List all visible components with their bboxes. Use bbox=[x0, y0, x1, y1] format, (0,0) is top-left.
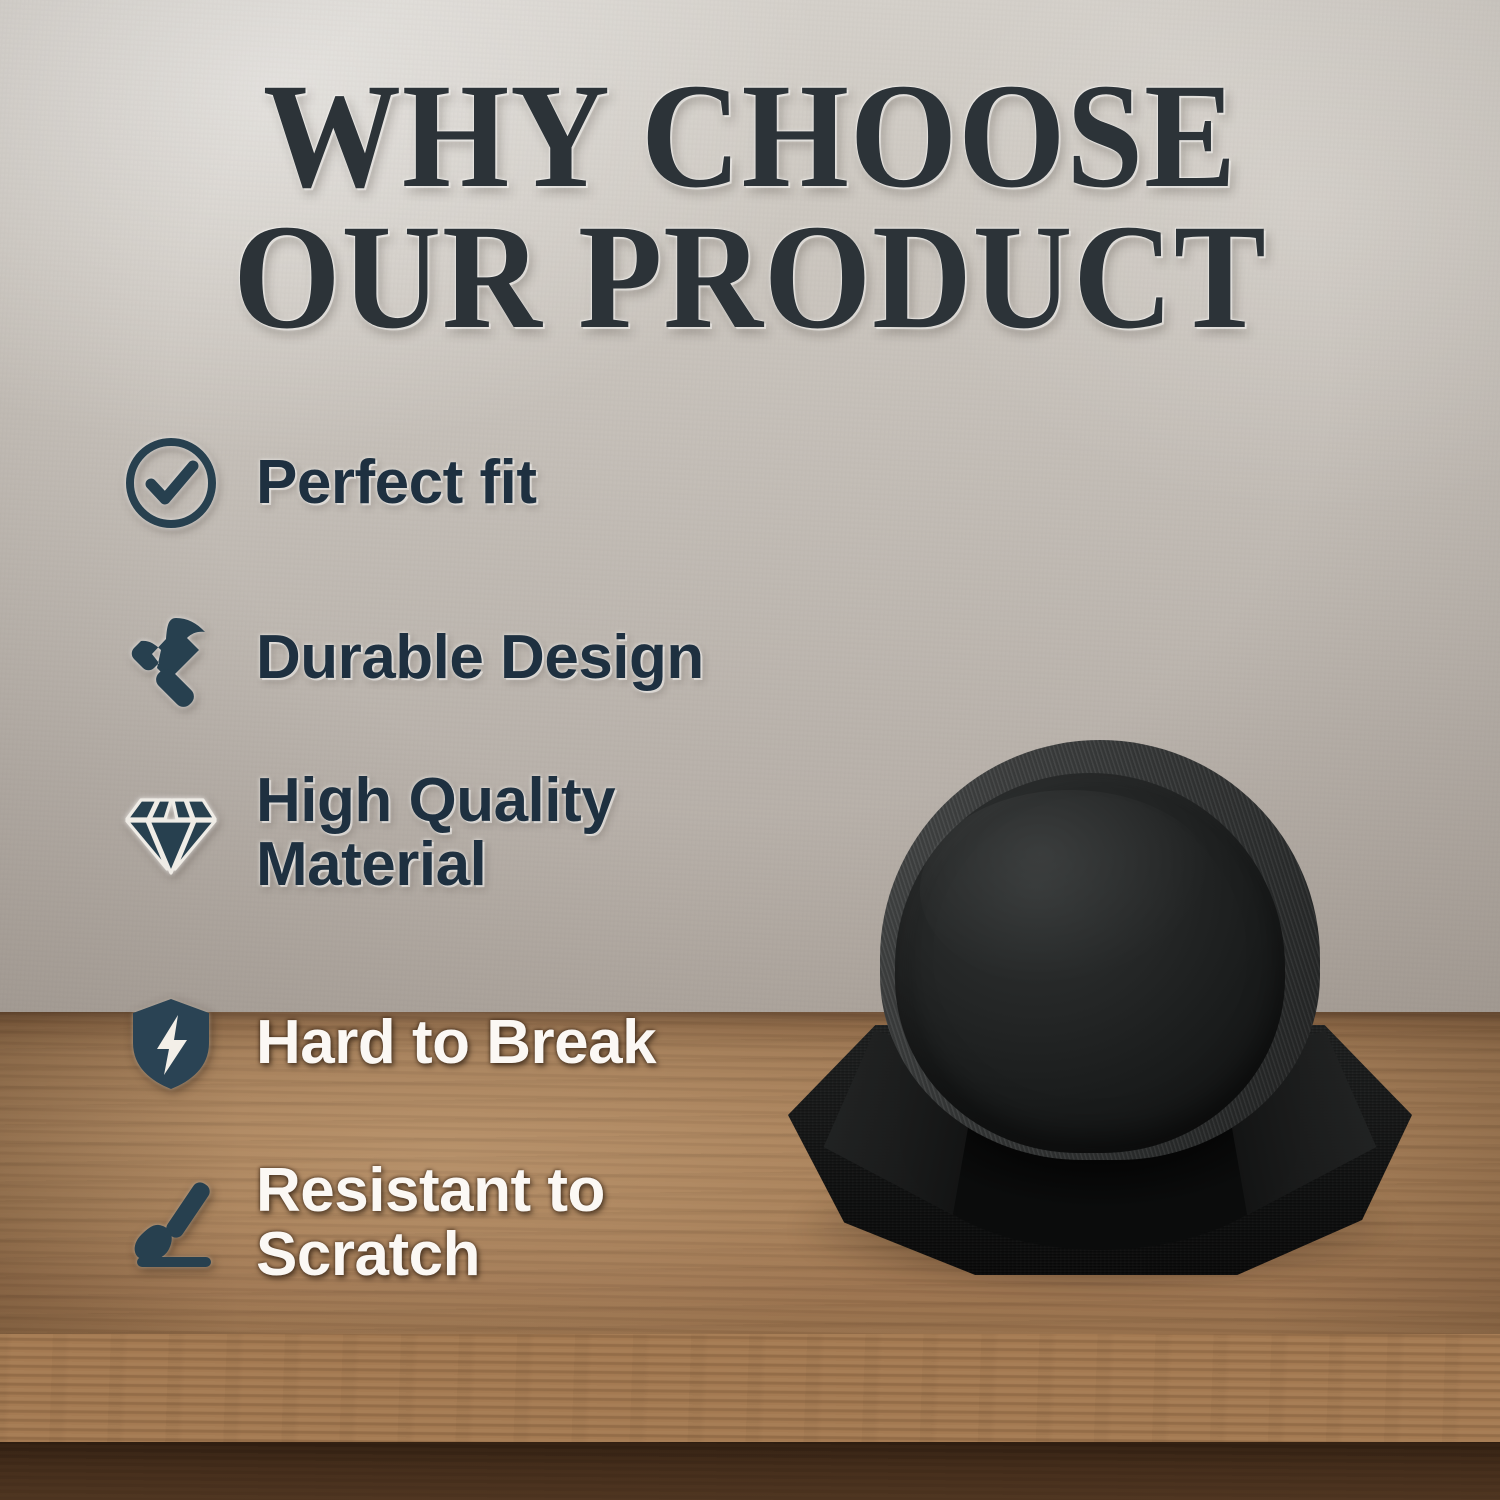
feature-label: Resistant to Scratch bbox=[256, 1159, 605, 1288]
scratch-stylus-icon bbox=[112, 1164, 230, 1282]
diamond-icon bbox=[112, 774, 230, 892]
shelf-underside-grain bbox=[0, 1442, 1500, 1500]
feature-label: Hard to Break bbox=[256, 1011, 656, 1075]
page-title-line-1: WHY CHOOSE bbox=[60, 66, 1440, 207]
shelf-front-edge-grain bbox=[0, 1334, 1500, 1442]
feature-item-resistant-to-scratch: Resistant to Scratch bbox=[112, 1159, 605, 1288]
check-circle-icon bbox=[112, 424, 230, 542]
page-title-line-2: OUR PRODUCT bbox=[60, 207, 1440, 348]
feature-item-hard-to-break: Hard to Break bbox=[112, 984, 656, 1102]
hammer-icon bbox=[112, 599, 230, 717]
product-object bbox=[780, 735, 1420, 1305]
feature-item-high-quality-material: High Quality Material bbox=[112, 769, 615, 898]
shield-bolt-icon bbox=[112, 984, 230, 1102]
feature-item-perfect-fit: Perfect fit bbox=[112, 424, 536, 542]
feature-label: Durable Design bbox=[256, 626, 704, 690]
product-disc-highlight bbox=[920, 790, 1220, 990]
feature-item-durable-design: Durable Design bbox=[112, 599, 704, 717]
product-feature-image: WHY CHOOSE OUR PRODUCT Perfect fit Durab… bbox=[0, 0, 1500, 1500]
feature-label: High Quality Material bbox=[256, 769, 615, 898]
page-title: WHY CHOOSE OUR PRODUCT bbox=[60, 66, 1440, 348]
feature-label: Perfect fit bbox=[256, 451, 536, 515]
